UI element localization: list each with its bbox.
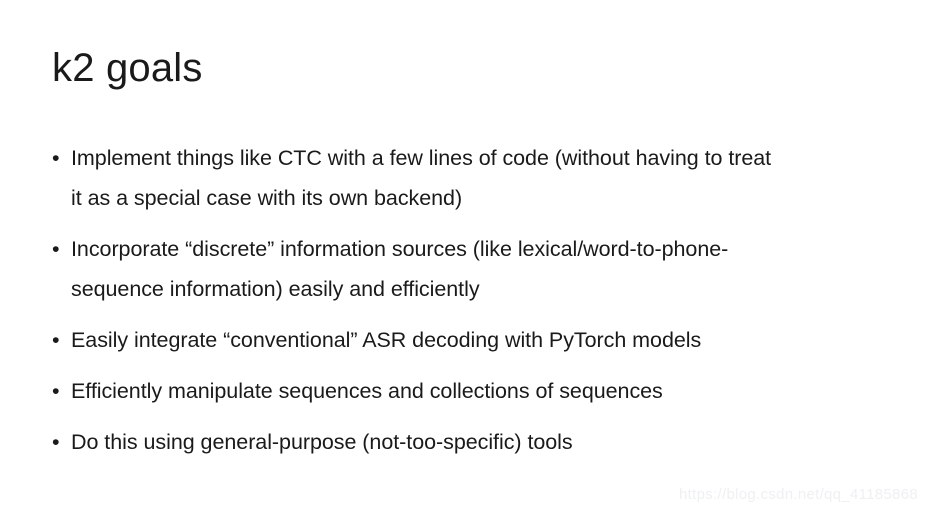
watermark-text: https://blog.csdn.net/qq_41185868 bbox=[679, 485, 918, 505]
bullet-point-icon: • bbox=[52, 371, 68, 411]
list-item-line: Do this using general-purpose (not-too-s… bbox=[71, 422, 880, 462]
bullet-point-icon: • bbox=[52, 422, 68, 462]
list-item-text: Incorporate “discrete” information sourc… bbox=[71, 229, 880, 309]
list-item-line: it as a special case with its own backen… bbox=[71, 178, 880, 218]
page-title: k2 goals bbox=[52, 42, 203, 94]
list-item-line: Easily integrate “conventional” ASR deco… bbox=[71, 320, 880, 360]
slide-canvas: k2 goals • Implement things like CTC wit… bbox=[0, 0, 926, 515]
list-item-line: Efficiently manipulate sequences and col… bbox=[71, 371, 880, 411]
list-item: • Incorporate “discrete” information sou… bbox=[50, 229, 880, 309]
list-item: • Implement things like CTC with a few l… bbox=[50, 138, 880, 218]
list-item: • Efficiently manipulate sequences and c… bbox=[50, 371, 880, 411]
list-item-text: Implement things like CTC with a few lin… bbox=[71, 138, 880, 218]
list-item-line: Incorporate “discrete” information sourc… bbox=[71, 229, 880, 269]
list-item-text: Easily integrate “conventional” ASR deco… bbox=[71, 320, 880, 360]
list-item-line: sequence information) easily and efficie… bbox=[71, 269, 880, 309]
list-item-text: Efficiently manipulate sequences and col… bbox=[71, 371, 880, 411]
bullet-point-icon: • bbox=[52, 138, 68, 178]
list-item: • Easily integrate “conventional” ASR de… bbox=[50, 320, 880, 360]
list-item: • Do this using general-purpose (not-too… bbox=[50, 422, 880, 462]
bullet-point-icon: • bbox=[52, 229, 68, 269]
list-item-text: Do this using general-purpose (not-too-s… bbox=[71, 422, 880, 462]
list-item-line: Implement things like CTC with a few lin… bbox=[71, 138, 880, 178]
bullet-point-icon: • bbox=[52, 320, 68, 360]
bullet-list: • Implement things like CTC with a few l… bbox=[50, 138, 880, 462]
